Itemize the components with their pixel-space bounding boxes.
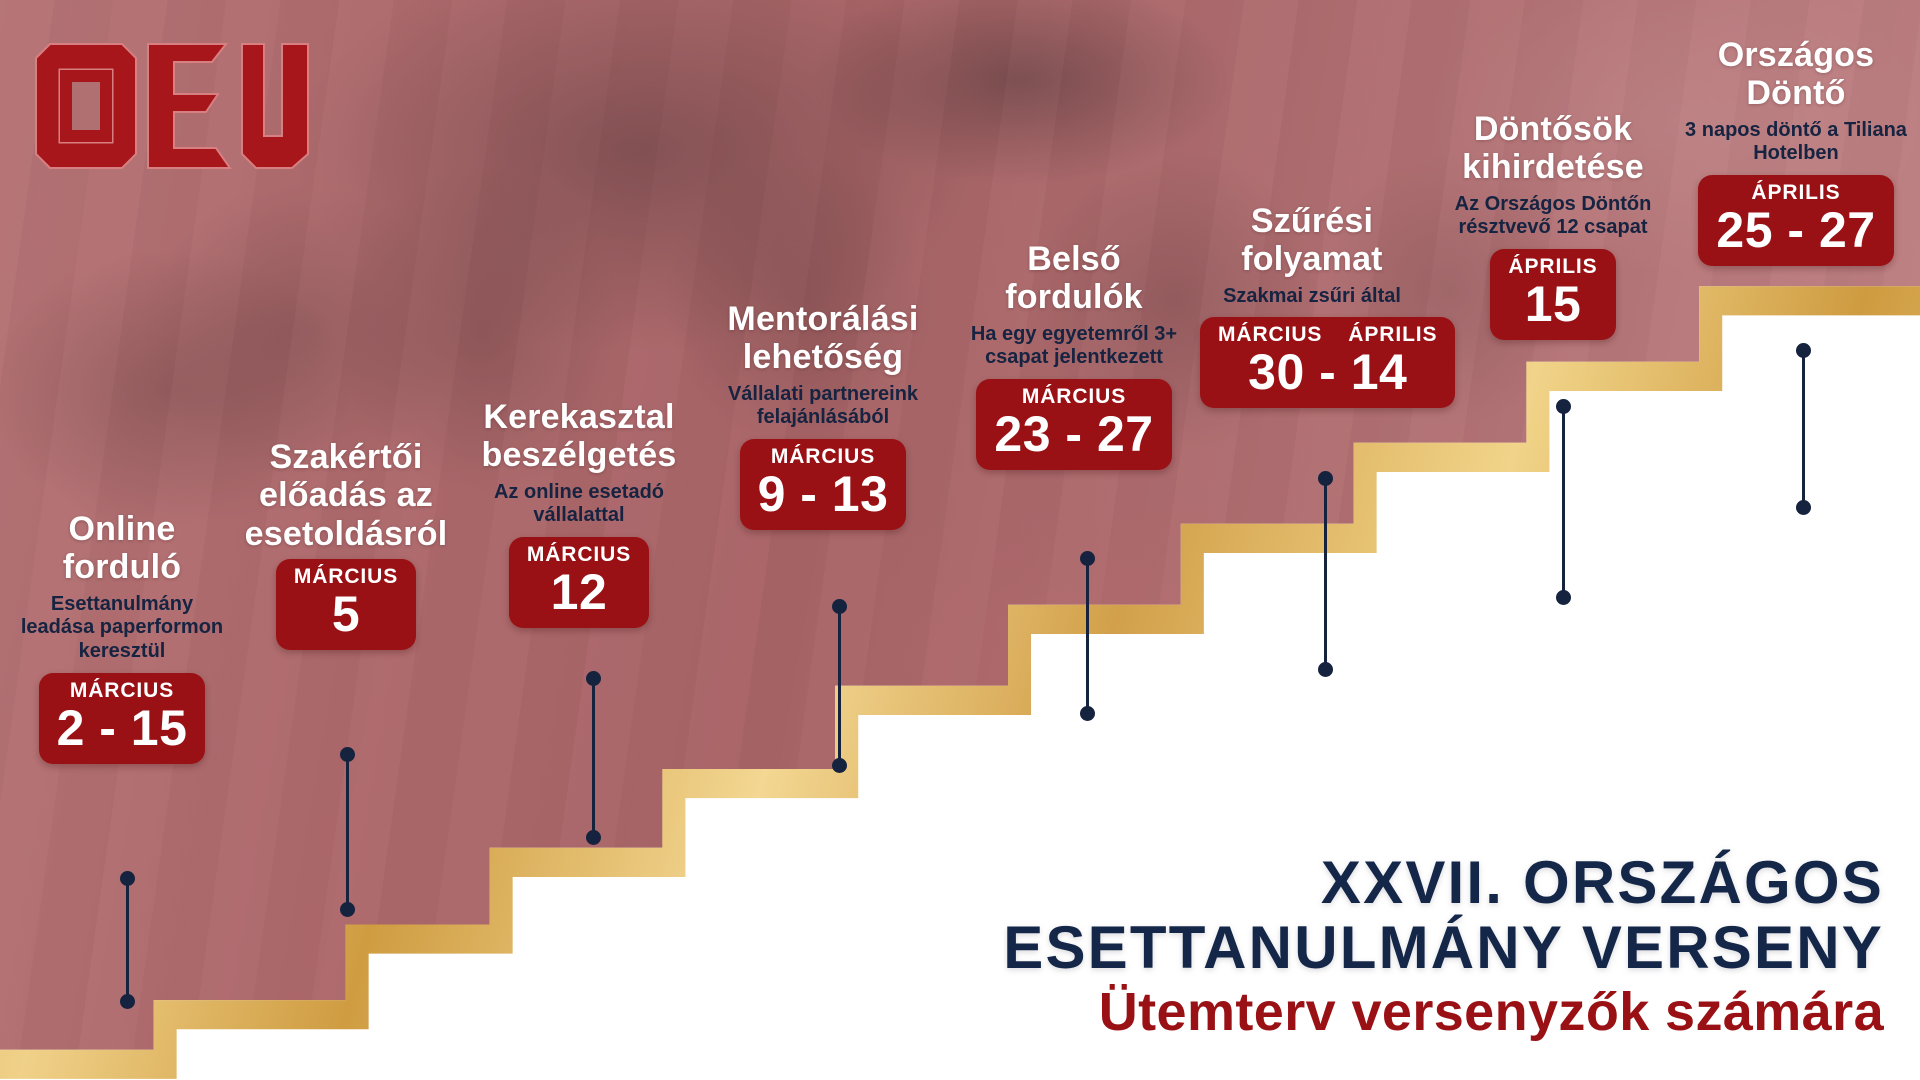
- milestone-1-days: 2 - 15: [57, 703, 188, 754]
- infographic-canvas: Online forduló Esettanulmány leadása pap…: [0, 0, 1920, 1080]
- milestone-1-online-fordulo: Online forduló Esettanulmány leadása pap…: [16, 510, 228, 764]
- milestone-7-month: ÁPRILIS: [1508, 256, 1597, 278]
- milestone-1-month-row: MÁRCIUS: [57, 680, 188, 702]
- milestone-1-connector: [126, 876, 129, 1004]
- milestone-7-dontosok-kihirdetese: Döntősök kihirdetése Az Országos Döntőn …: [1440, 110, 1666, 340]
- milestone-4-month-row: MÁRCIUS: [758, 446, 889, 468]
- milestone-6-month-row: MÁRCIUS ÁPRILIS: [1218, 324, 1437, 346]
- milestone-8-title: Országos Döntő: [1684, 36, 1908, 113]
- milestone-5-month-row: MÁRCIUS: [994, 386, 1153, 408]
- milestone-4-subtitle: Vállalati partnereink felajánlásából: [712, 383, 934, 430]
- milestone-5-title: Belső fordulók: [960, 240, 1188, 317]
- milestone-2-szakertoi-eloadas: Szakértői előadás az esetoldásról MÁRCIU…: [236, 438, 456, 650]
- milestone-2-connector: [346, 752, 349, 912]
- milestone-5-subtitle: Ha egy egyetemről 3+ csapat jelentkezett: [960, 323, 1188, 370]
- milestone-4-days: 9 - 13: [758, 469, 889, 520]
- milestone-6-month-end: ÁPRILIS: [1348, 324, 1437, 346]
- milestone-4-title: Mentorálási lehetőség: [712, 300, 934, 377]
- milestone-4-month: MÁRCIUS: [771, 446, 875, 468]
- milestone-5-month: MÁRCIUS: [1022, 386, 1126, 408]
- headline-line-2: ESETTANULMÁNY VERSENY: [824, 916, 1884, 981]
- milestone-4-mentoralasi-lehetoseg: Mentorálási lehetőség Vállalati partnere…: [712, 300, 934, 530]
- milestone-3-kerekasztal: Kerekasztal beszélgetés Az online esetad…: [468, 398, 690, 628]
- milestone-8-subtitle: 3 napos döntő a Tiliana Hotelben: [1684, 119, 1908, 166]
- milestone-6-days: 30 - 14: [1218, 347, 1437, 398]
- milestone-7-days: 15: [1508, 279, 1597, 330]
- milestone-6-date-badge[interactable]: MÁRCIUS ÁPRILIS 30 - 14: [1200, 317, 1455, 408]
- milestone-6-title: Szűrési folyamat: [1200, 202, 1424, 279]
- milestone-6-subtitle: Szakmai zsűri által: [1200, 285, 1424, 309]
- milestone-7-title: Döntősök kihirdetése: [1440, 110, 1666, 187]
- oev-logo: [26, 36, 326, 176]
- milestone-8-date-badge[interactable]: ÁPRILIS 25 - 27: [1698, 175, 1893, 266]
- milestone-5-connector: [1086, 556, 1089, 716]
- milestone-5-date-badge[interactable]: MÁRCIUS 23 - 27: [976, 379, 1171, 470]
- milestone-7-subtitle: Az Országos Döntőn résztvevő 12 csapat: [1440, 193, 1666, 240]
- milestone-3-title: Kerekasztal beszélgetés: [468, 398, 690, 475]
- milestone-2-month-row: MÁRCIUS: [294, 566, 398, 588]
- headline-line-3: Ütemterv versenyzők számára: [824, 982, 1884, 1044]
- milestone-3-date-badge[interactable]: MÁRCIUS 12: [509, 537, 649, 628]
- headline-line-1: XXVII. ORSZÁGOS: [824, 851, 1884, 916]
- milestone-8-month-row: ÁPRILIS: [1716, 182, 1875, 204]
- milestone-2-date-badge[interactable]: MÁRCIUS 5: [276, 559, 416, 650]
- headline-block: XXVII. ORSZÁGOS ESETTANULMÁNY VERSENY Üt…: [824, 851, 1884, 1044]
- milestone-2-days: 5: [294, 589, 398, 640]
- milestone-5-days: 23 - 27: [994, 409, 1153, 460]
- milestone-3-month-row: MÁRCIUS: [527, 544, 631, 566]
- milestone-4-connector: [838, 604, 841, 768]
- milestone-1-month: MÁRCIUS: [70, 680, 174, 702]
- milestone-3-days: 12: [527, 567, 631, 618]
- milestone-6-connector: [1324, 476, 1327, 672]
- milestone-8-orszagos-donto: Országos Döntő 3 napos döntő a Tiliana H…: [1684, 36, 1908, 266]
- milestone-6-szuresi-folyamat: Szűrési folyamat Szakmai zsűri által MÁR…: [1200, 202, 1424, 408]
- milestone-7-connector: [1562, 404, 1565, 600]
- milestone-2-title: Szakértői előadás az esetoldásról: [236, 438, 456, 553]
- milestone-2-month: MÁRCIUS: [294, 566, 398, 588]
- milestone-8-month: ÁPRILIS: [1751, 182, 1840, 204]
- milestone-3-connector: [592, 676, 595, 840]
- milestone-7-date-badge[interactable]: ÁPRILIS 15: [1490, 249, 1615, 340]
- milestone-1-subtitle: Esettanulmány leadása paperformon keresz…: [16, 593, 228, 664]
- milestone-8-connector: [1802, 348, 1805, 510]
- milestone-8-days: 25 - 27: [1716, 205, 1875, 256]
- milestone-1-title: Online forduló: [16, 510, 228, 587]
- milestone-3-month: MÁRCIUS: [527, 544, 631, 566]
- milestone-6-month-start: MÁRCIUS: [1218, 324, 1322, 346]
- milestone-4-date-badge[interactable]: MÁRCIUS 9 - 13: [740, 439, 907, 530]
- milestone-7-month-row: ÁPRILIS: [1508, 256, 1597, 278]
- milestone-5-belso-fordulok: Belső fordulók Ha egy egyetemről 3+ csap…: [960, 240, 1188, 470]
- milestone-3-subtitle: Az online esetadó vállalattal: [468, 481, 690, 528]
- milestone-1-date-badge[interactable]: MÁRCIUS 2 - 15: [39, 673, 206, 764]
